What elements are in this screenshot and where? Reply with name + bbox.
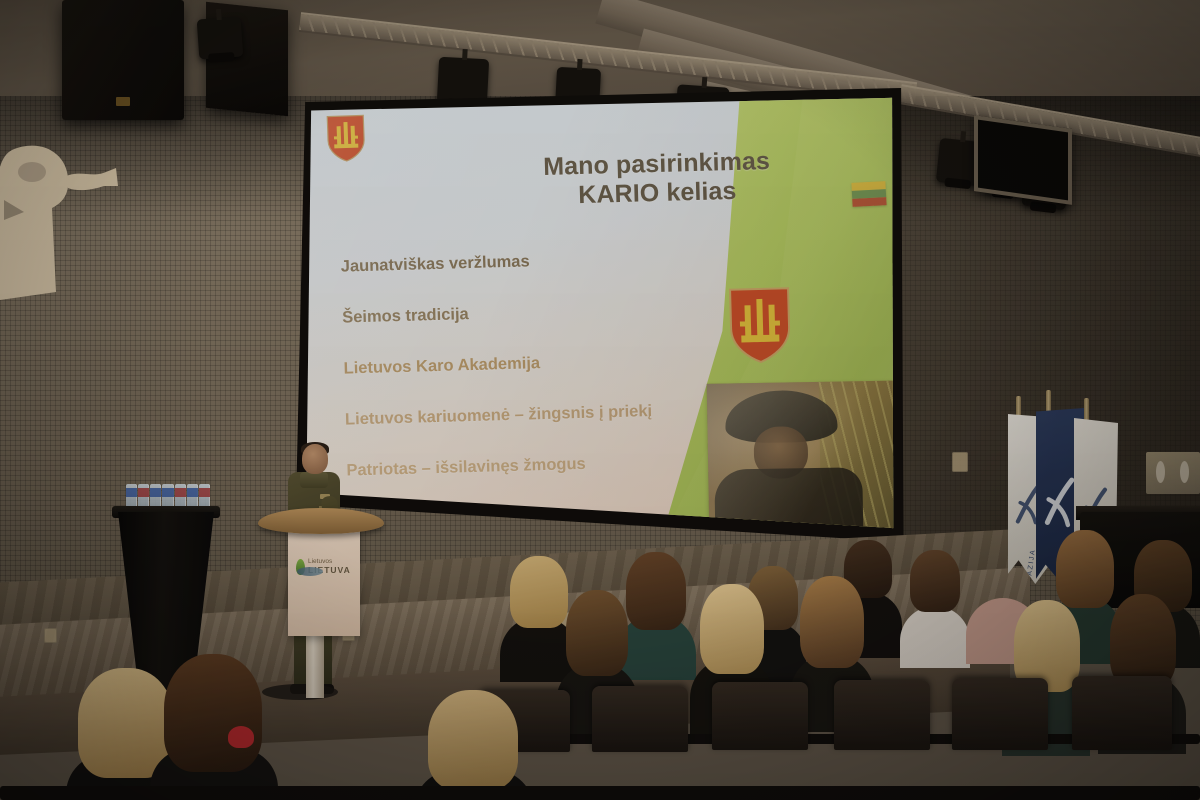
audience-member [414, 690, 534, 800]
slide-title-line-1: Mano pasirinkimas [543, 147, 770, 181]
audience-seat[interactable] [1072, 676, 1172, 750]
hanging-monitor [974, 115, 1072, 205]
projection-screen[interactable]: Mano pasirinkimas KARIO kelias Jaunatviš… [304, 96, 898, 548]
audience-seat[interactable] [592, 686, 688, 752]
stage-light-icon [197, 17, 244, 60]
slide-title: Mano pasirinkimas KARIO kelias [491, 146, 822, 212]
slide-bullet-item: Lietuvos Karo Akademija [343, 348, 743, 378]
angel-with-trumpet-sculpture-icon [0, 142, 122, 302]
audience-seat[interactable] [712, 682, 808, 750]
audience-member [150, 654, 278, 800]
wall-control-panel [1146, 452, 1200, 494]
hair-bow-icon [228, 726, 254, 748]
soldier-in-field-photo [707, 380, 898, 532]
slide-bullet-item: Jaunatviškas veržlumas [341, 246, 741, 276]
audience-seat[interactable] [834, 680, 930, 750]
lithuania-flag-icon [851, 181, 886, 207]
wall-outlet [952, 452, 968, 472]
slide-bullet-list: Jaunatviškas veržlumas Šeimos tradicija … [341, 246, 748, 512]
conference-hall-scene: Mano pasirinkimas KARIO kelias Jaunatviš… [0, 0, 1200, 800]
loudspeaker-icon [62, 0, 184, 120]
columns-of-gediminas-shield-icon-large [727, 285, 793, 365]
columns-of-gediminas-shield-icon [325, 113, 367, 162]
slide-bullet-item: Patriotas – išsilavinęs žmogus [346, 450, 746, 480]
speaker-brand-badge [116, 97, 130, 106]
audience-area [0, 540, 1200, 800]
seat-rail[interactable] [0, 786, 1200, 800]
podium-top [258, 508, 384, 534]
audience-member [900, 550, 970, 666]
presentation-slide: Mano pasirinkimas KARIO kelias Jaunatviš… [304, 96, 898, 548]
slide-bullet-item: Šeimos tradicija [342, 297, 742, 327]
slide-bullet-item: Lietuvos kariuomenė – žingsnis į priekį [345, 399, 745, 429]
audience-seat[interactable] [952, 678, 1048, 750]
